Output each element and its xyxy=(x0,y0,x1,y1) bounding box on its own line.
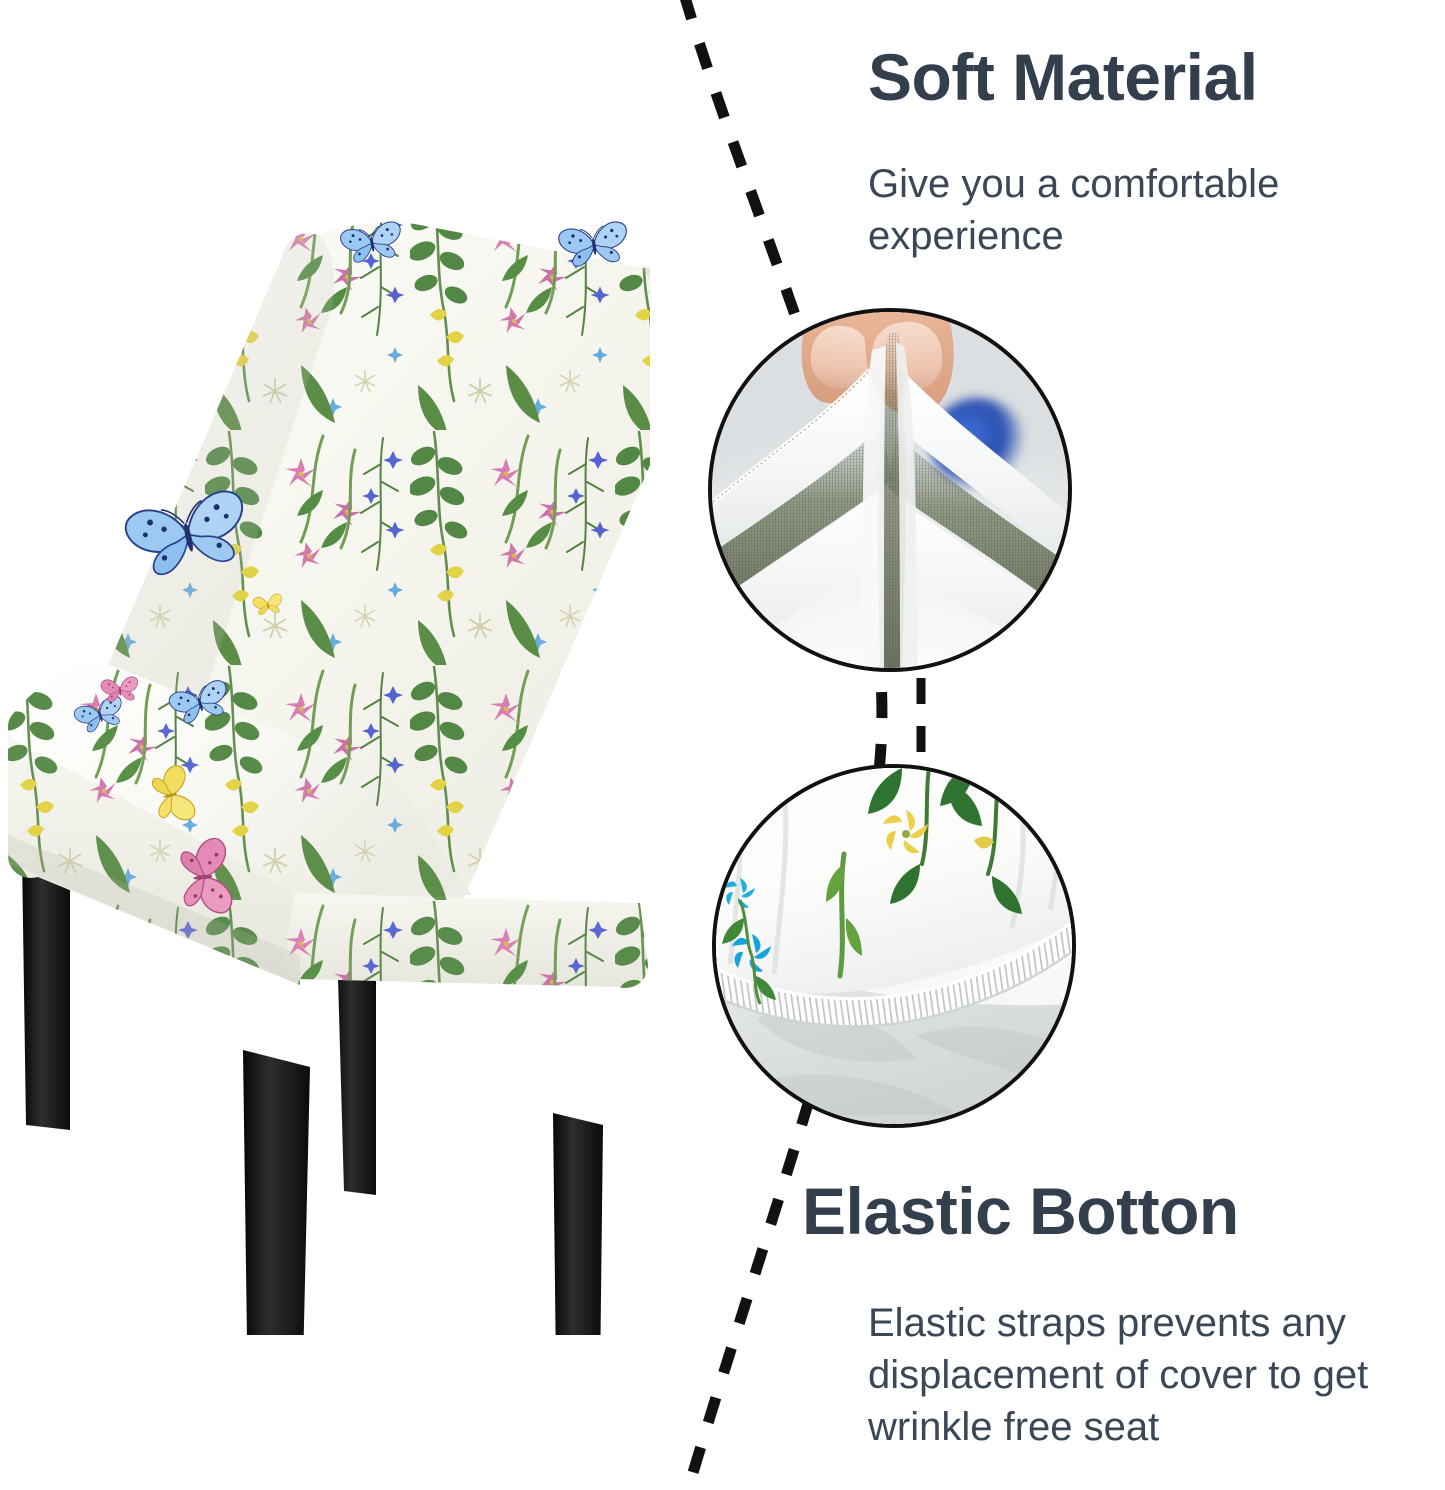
chair-illustration xyxy=(0,195,650,1335)
elastic-bottom-heading: Elastic Botton xyxy=(802,1178,1239,1244)
fabric-pinch-photo xyxy=(712,312,1068,668)
detail-circle-elastic-bottom xyxy=(712,764,1076,1128)
circle-connector-dashes xyxy=(896,676,946,772)
product-chair-image xyxy=(0,195,650,1335)
soft-material-subtitle: Give you a comfortable experience xyxy=(868,158,1388,262)
infographic-canvas: Soft Material Give you a comfortable exp… xyxy=(0,0,1445,1490)
stretched-fabric xyxy=(712,312,1068,668)
elastic-bottom-subtitle: Elastic straps prevents any displacement… xyxy=(868,1297,1428,1453)
soft-material-heading: Soft Material xyxy=(868,44,1258,110)
detail-circle-soft-material xyxy=(708,308,1072,672)
elastic-hem-illustration xyxy=(716,768,1072,1124)
elastic-hem-photo xyxy=(716,768,1072,1124)
